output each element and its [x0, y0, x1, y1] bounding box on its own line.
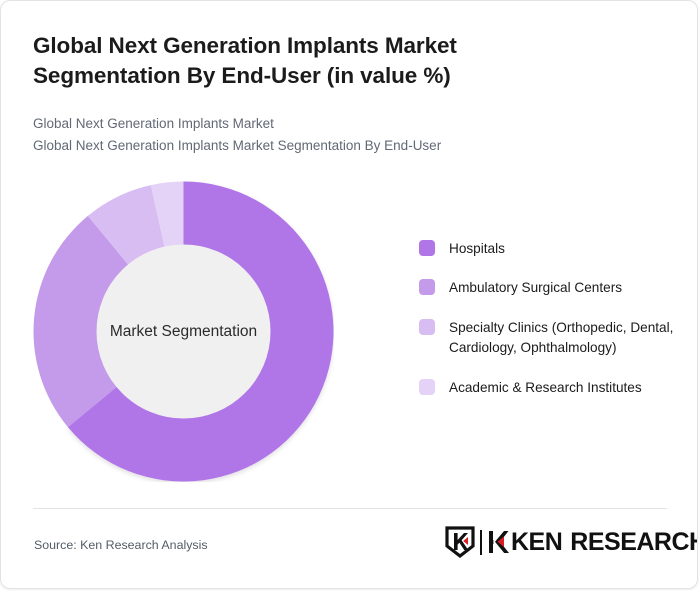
source-note: Source: Ken Research Analysis	[34, 538, 208, 552]
logo-k-icon	[488, 529, 510, 555]
legend-item[interactable]: Academic & Research Institutes	[419, 378, 681, 398]
logo-separator	[480, 530, 482, 555]
legend-swatch-icon	[419, 240, 435, 256]
donut-hole	[97, 245, 271, 419]
footer-divider	[33, 508, 667, 509]
logo-wordmark: KEN RESEARCH	[488, 529, 698, 555]
legend-item-label: Specialty Clinics (Orthopedic, Dental, C…	[449, 318, 681, 359]
legend-item-label: Ambulatory Surgical Centers	[449, 278, 622, 298]
donut-chart: Market Segmentation	[33, 181, 334, 482]
legend-item[interactable]: Specialty Clinics (Orthopedic, Dental, C…	[419, 318, 681, 359]
legend-swatch-icon	[419, 279, 435, 295]
chart-legend: HospitalsAmbulatory Surgical CentersSpec…	[419, 239, 681, 417]
legend-item-label: Hospitals	[449, 239, 505, 259]
legend-item-label: Academic & Research Institutes	[449, 378, 642, 398]
logo-word-research: RESEARCH	[570, 530, 698, 555]
legend-item[interactable]: Ambulatory Surgical Centers	[419, 278, 681, 298]
chart-card: Global Next Generation Implants Market S…	[0, 0, 698, 589]
ken-research-logo: KEN RESEARCH	[445, 525, 698, 559]
logo-word-ken: KEN	[511, 530, 562, 555]
legend-swatch-icon	[419, 379, 435, 395]
ken-research-logo-mark-icon	[445, 526, 475, 558]
legend-item[interactable]: Hospitals	[419, 239, 681, 259]
donut-svg	[33, 181, 334, 482]
legend-swatch-icon	[419, 319, 435, 335]
chart-area: Market Segmentation HospitalsAmbulatory …	[1, 1, 698, 521]
